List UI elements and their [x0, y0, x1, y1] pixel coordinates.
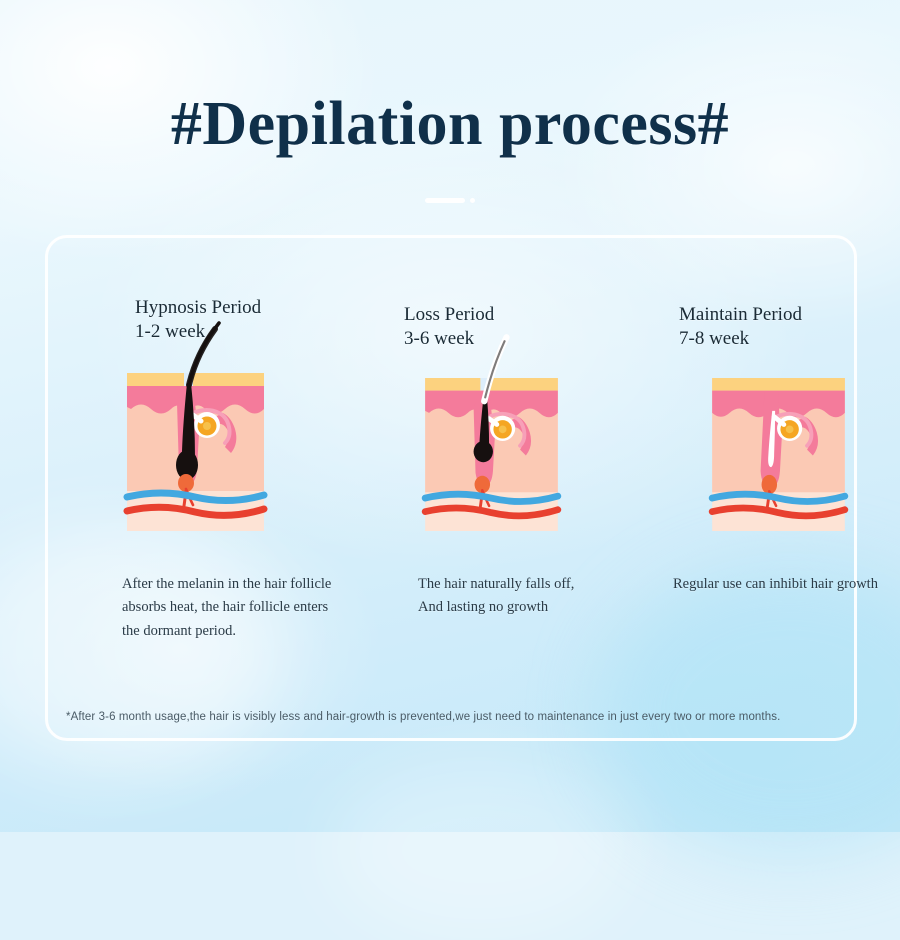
step-caption-loss: The hair naturally falls off, And lastin…	[418, 573, 648, 620]
background-blotch-bottom	[330, 760, 630, 940]
title-divider	[0, 195, 900, 205]
skin-cross-section-maintain	[710, 378, 847, 531]
divider-dot	[470, 198, 475, 203]
process-card: Hypnosis Period 1-2 week	[45, 235, 857, 741]
skin-cross-section-hypnosis	[127, 373, 264, 531]
step-heading-maintain: Maintain Period 7-8 week	[679, 303, 802, 352]
divider-bar	[425, 198, 465, 203]
step-caption-maintain: Regular use can inhibit hair growth	[673, 573, 900, 596]
step-caption-hypnosis: After the melanin in the hair follicle a…	[122, 573, 362, 643]
card-footnote: *After 3-6 month usage,the hair is visib…	[66, 711, 836, 723]
page-title: #Depilation process#	[0, 92, 900, 157]
skin-cross-section-loss	[423, 378, 560, 531]
step-heading-hypnosis: Hypnosis Period 1-2 week	[135, 296, 261, 345]
step-heading-loss: Loss Period 3-6 week	[404, 303, 494, 352]
